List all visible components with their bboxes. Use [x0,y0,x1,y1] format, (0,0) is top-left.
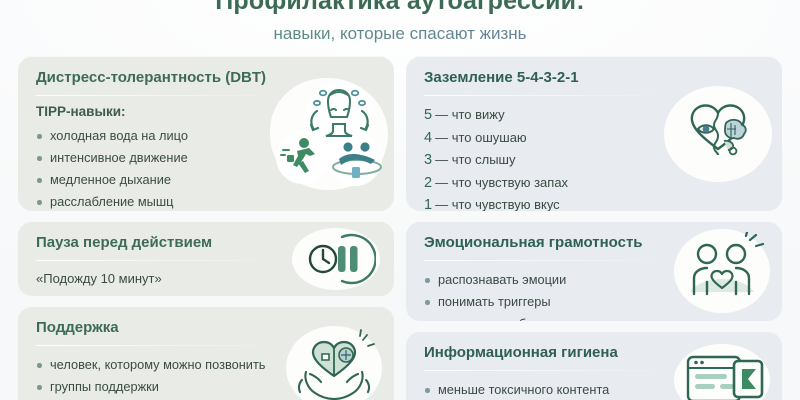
step-number: 2 [424,175,432,191]
list-item: интенсивное движение [36,147,378,169]
list-item: группы поддержки [36,376,378,398]
card-title: Пауза перед действием [36,233,378,252]
step-number: 1 [424,197,432,211]
card-title: Поддержка [36,318,378,337]
list-item: человек, которому можно позвонить [36,354,378,376]
card-divider [36,345,282,346]
list-item: медленное дыхание [36,169,378,191]
right-column: Заземление 5-4-3-2-1 5— что вижу 4— что … [406,56,782,400]
card-information-hygiene[interactable]: Информационная гигиена меньше токсичного… [406,331,782,400]
card-divider [424,95,670,96]
support-list: человек, которому можно позвонить группы… [36,354,378,400]
list-item: понимать триггеры [424,291,766,313]
page-title: Профилактика аутоагрессии: [0,0,800,16]
step-text: — что ошушаю [435,130,527,145]
list-item: распознавать эмоции [424,269,766,291]
list-item: расслабление мышц [36,191,378,211]
card-title: Дистресс-толерантность (DBT) [36,68,378,87]
card-subheading: TIPP-навыки: [36,104,378,119]
list-item: 4— что ошушаю [424,127,766,150]
tipp-skills-list: холодная вода на лицо интенсивное движен… [36,125,378,211]
step-text: — что чувствую запах [435,175,568,190]
card-title: Эмоциональная грамотность [424,233,766,252]
card-divider [36,260,282,261]
left-column: Дистресс-толерантность (DBT) TIPP-навыки… [18,56,394,400]
card-emotional-literacy[interactable]: Эмоциональная грамотность распознавать э… [406,221,782,321]
list-item: 5— что вижу [424,104,766,127]
cards-layout: Дистресс-толерантность (DBT) TIPP-навыки… [0,56,800,400]
card-grounding[interactable]: Заземление 5-4-3-2-1 5— что вижу 4— что … [406,56,782,211]
information-hygiene-list: меньше токсичного контента [424,379,766,400]
list-item: холодная вода на лицо [36,125,378,147]
step-text: — что слышу [435,152,515,167]
page-header: Профилактика аутоагрессии: навыки, котор… [0,0,800,44]
list-item: 2— что чувствую запах [424,172,766,195]
step-text: — что чувствую вкус [435,197,560,211]
infographic-page: Профилактика аутоагрессии: навыки, котор… [0,0,800,400]
card-pause-before-action[interactable]: Пауза перед действием «Подожду 10 минут» [18,221,394,296]
list-item: разрешать себе чувствовать [424,313,766,321]
grounding-steps-list: 5— что вижу 4— что ошушаю 3— что слышу 2… [424,104,766,211]
card-divider [424,260,670,261]
card-distress-tolerance[interactable]: Дистресс-толерантность (DBT) TIPP-навыки… [18,56,394,211]
emotional-literacy-list: распознавать эмоции понимать триггеры ра… [424,269,766,321]
card-support[interactable]: Поддержка человек, которому можно позвон… [18,306,394,400]
pause-quote: «Подожду 10 минут» [36,269,378,289]
step-number: 5 [424,107,432,123]
page-subtitle: навыки, которые спасают жизнь [0,23,800,44]
list-item: 3— что слышу [424,149,766,172]
step-text: — что вижу [435,107,505,122]
step-number: 3 [424,152,432,168]
list-item: 1— что чувствую вкус [424,194,766,211]
step-number: 4 [424,130,432,146]
card-divider [36,95,282,96]
list-item: меньше токсичного контента [424,379,766,400]
card-divider [424,370,670,371]
card-title: Заземление 5-4-3-2-1 [424,68,766,87]
card-title: Информационная гигиена [424,343,766,362]
